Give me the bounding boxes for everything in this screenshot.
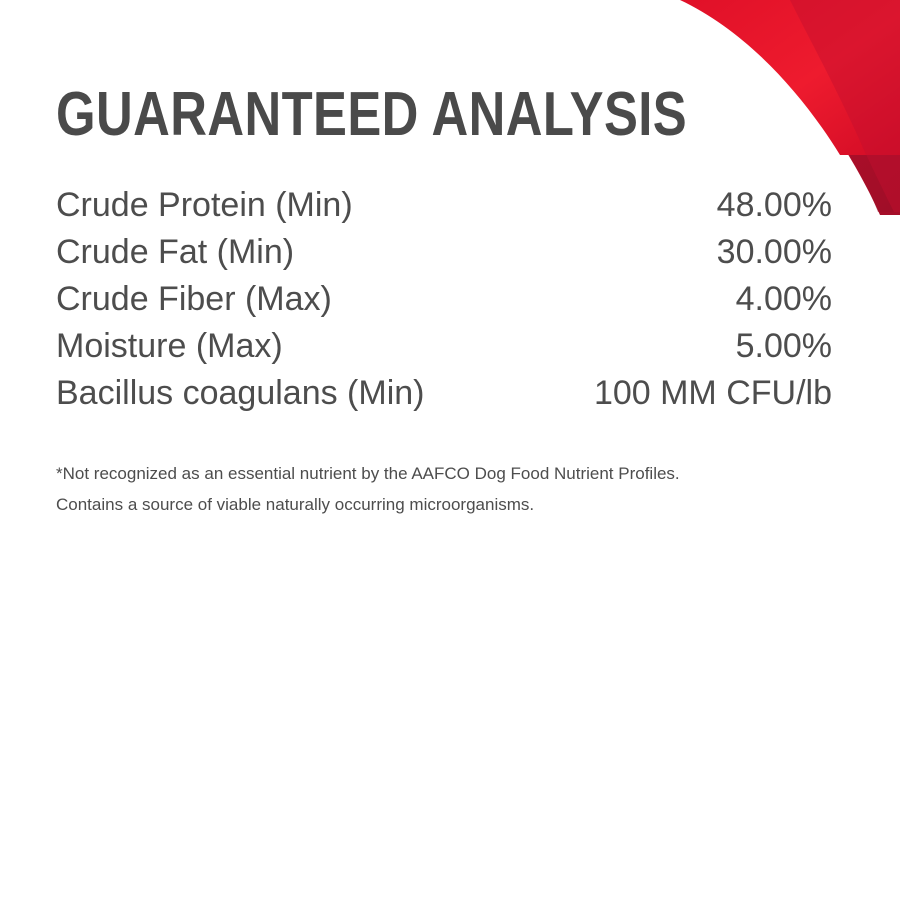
nutrient-name: Crude Fat (Min) <box>56 229 527 276</box>
nutrient-value: 30.00% <box>527 229 832 276</box>
table-row: Moisture (Max) 5.00% <box>56 323 832 370</box>
table-row: Bacillus coagulans (Min) 100 MM CFU/lb <box>56 370 832 417</box>
guaranteed-analysis-panel: GUARANTEED ANALYSIS Crude Protein (Min) … <box>0 0 900 900</box>
nutrient-name: Moisture (Max) <box>56 323 527 370</box>
table-row: Crude Fat (Min) 30.00% <box>56 229 832 276</box>
nutrient-value: 5.00% <box>527 323 832 370</box>
nutrient-name: Crude Fiber (Max) <box>56 276 527 323</box>
table-row: Crude Protein (Min) 48.00% <box>56 182 832 229</box>
footnotes: *Not recognized as an essential nutrient… <box>56 458 832 520</box>
page-title: GUARANTEED ANALYSIS <box>56 84 687 146</box>
swoosh-accent-shape <box>790 0 900 212</box>
nutrient-name: Bacillus coagulans (Min) <box>56 370 527 417</box>
guaranteed-analysis-table: Crude Protein (Min) 48.00% Crude Fat (Mi… <box>56 182 832 417</box>
nutrient-value: 4.00% <box>527 276 832 323</box>
swoosh-upper-shape <box>680 0 900 155</box>
nutrient-name: Crude Protein (Min) <box>56 182 527 229</box>
footnote-line-1: *Not recognized as an essential nutrient… <box>56 458 832 489</box>
swoosh-band-shape <box>683 0 900 212</box>
table-row: Crude Fiber (Max) 4.00% <box>56 276 832 323</box>
footnote-line-2: Contains a source of viable naturally oc… <box>56 489 832 520</box>
nutrient-value: 100 MM CFU/lb <box>527 370 832 417</box>
nutrient-value: 48.00% <box>527 182 832 229</box>
